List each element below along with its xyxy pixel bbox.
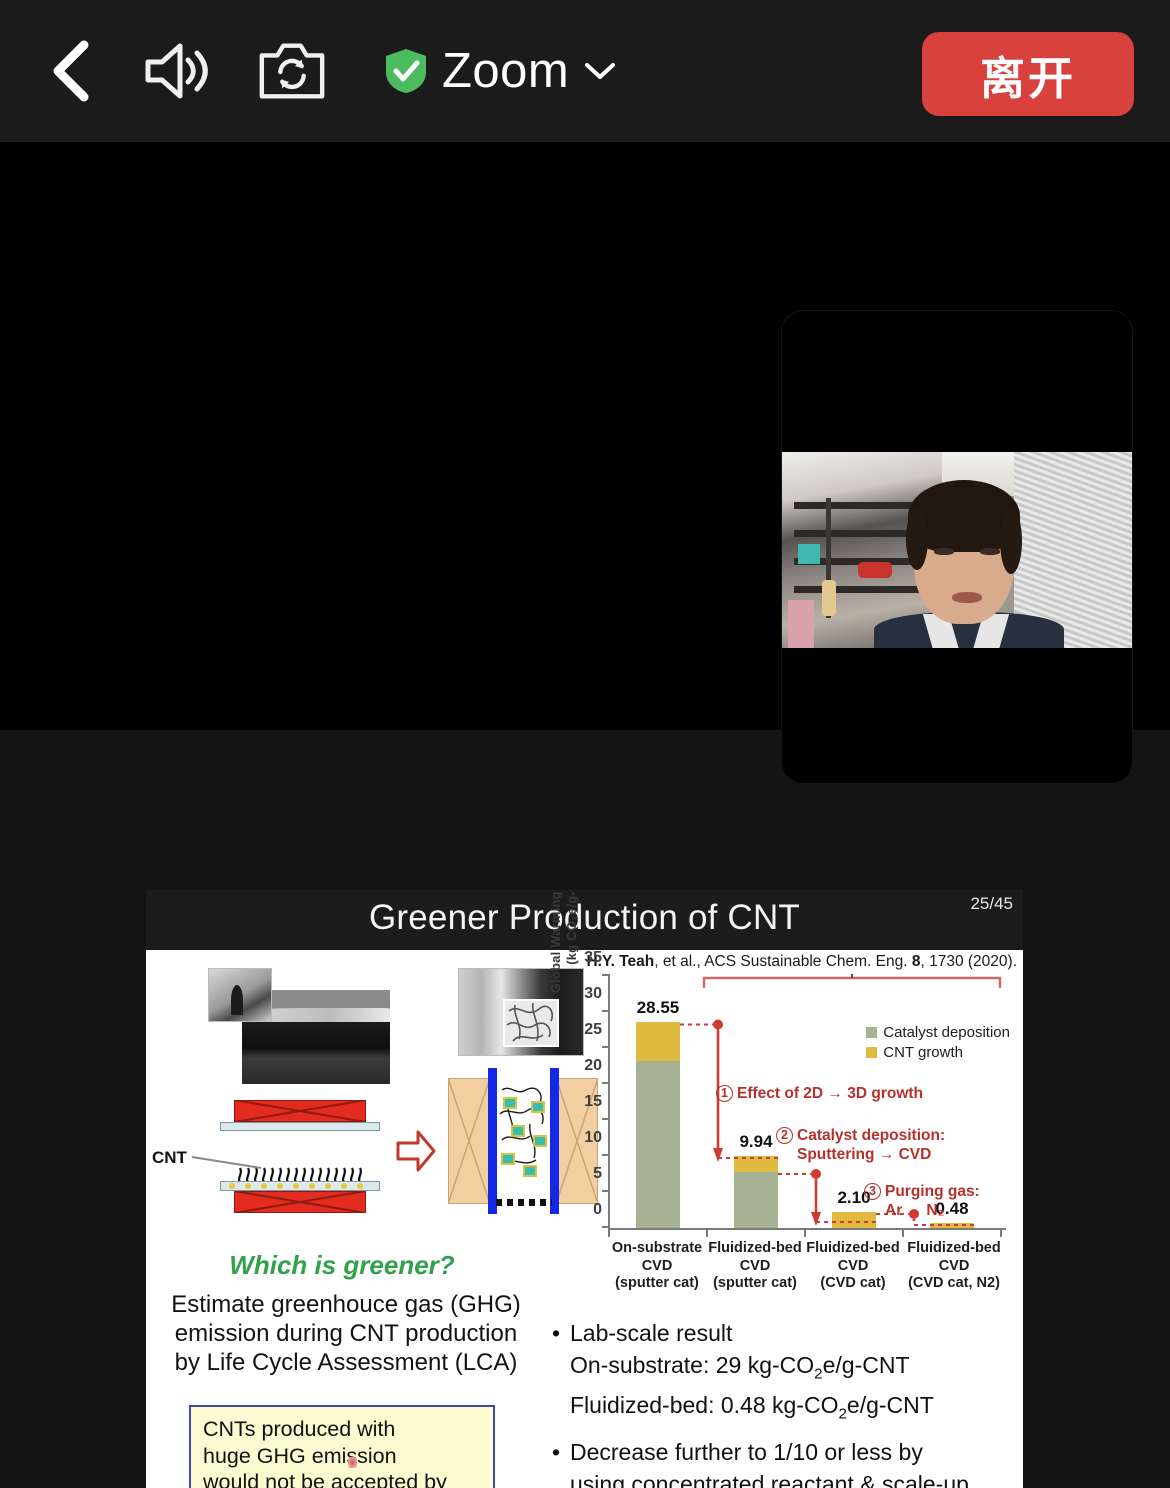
x-tick (608, 1229, 610, 1237)
shelf-item-pink (788, 600, 814, 648)
sem-inset-image (208, 968, 272, 1022)
back-button[interactable] (44, 40, 96, 102)
x-category-label: Fluidized-bed CVD (CVD cat, N2) (902, 1240, 1006, 1293)
y-tick (602, 974, 610, 976)
slide-page-number: 25/45 (970, 894, 1013, 914)
switch-camera-button[interactable] (256, 38, 328, 104)
person-eye-left (934, 548, 954, 555)
speaker-button[interactable] (140, 38, 212, 104)
camera-switch-icon (256, 39, 328, 103)
catalyst-particles-icon (226, 1181, 374, 1191)
annotation-text: Effect of 2D → 3D growth (737, 1085, 923, 1102)
chart-annotation-2: 2Catalyst deposition: Sputtering → CVD (776, 1126, 945, 1164)
bullet-dot: • (552, 1437, 570, 1467)
slide-title: Greener Production of CNT (146, 898, 1023, 938)
ghg-line: by Life Cycle Assessment (LCA) (158, 1348, 534, 1377)
chart-annotation-3: 3Purging gas: Ar → N₂ (864, 1182, 980, 1220)
ghg-description: Estimate greenhouce gas (GHG) emission d… (158, 1290, 534, 1377)
x-category-line: (CVD cat) (804, 1275, 902, 1293)
y-tick-label: 30 (562, 985, 602, 1003)
process-arrow-icon (396, 1128, 436, 1174)
shelf-item-teal (798, 544, 820, 564)
ghg-line: Estimate greenhouce gas (GHG) (158, 1290, 534, 1319)
x-category-line: Fluidized-bed (706, 1240, 804, 1258)
y-tick-label: 0 (562, 1201, 602, 1219)
x-category-line: CVD (608, 1258, 706, 1276)
slide-right-column: Global Warming Potential (kg CO₂e/g-CNT) (538, 950, 1023, 1488)
annotation-number: 1 (716, 1085, 733, 1102)
y-tick-label: 5 (562, 1165, 602, 1183)
callout-line: huge GHG emission (203, 1443, 483, 1470)
shield-check-icon (384, 48, 428, 94)
bar-segment-cnt-growth (734, 1156, 778, 1172)
substrate-plate (220, 1122, 380, 1131)
bar-segment-cnt-growth (930, 1223, 974, 1228)
legend-swatch-cnt-growth (866, 1047, 877, 1058)
annotation-number: 2 (776, 1127, 793, 1144)
x-category-label: Fluidized-bed CVD (sputter cat) (706, 1240, 804, 1293)
x-category-line: CVD (902, 1258, 1006, 1276)
callout-line: CNTs produced with (203, 1416, 483, 1443)
annotation-text-line2: Sputtering → CVD (776, 1145, 945, 1164)
chart-annotation-1: 1Effect of 2D → 3D growth (716, 1084, 923, 1103)
chevron-down-icon[interactable] (583, 60, 617, 82)
app-root: Zoom 离开 (0, 0, 1170, 1488)
person-hair-side-left (906, 508, 928, 570)
x-category-line: CVD (804, 1258, 902, 1276)
annotation-text: Purging gas: (885, 1183, 980, 1200)
video-frame (782, 452, 1133, 648)
bullet-dot: • (552, 1318, 570, 1348)
mouse-cursor-highlight (348, 1457, 357, 1468)
y-tick (602, 1118, 610, 1120)
y-tick-label: 10 (562, 1129, 602, 1147)
bullet-item: • Decrease further to 1/10 or less by (552, 1437, 1014, 1467)
callout-box: CNTs produced with huge GHG emission wou… (189, 1405, 495, 1488)
bar-segment-catalyst-deposition (636, 1061, 680, 1228)
callout-line: would not be accepted by (203, 1469, 483, 1488)
y-tick-label: 15 (562, 1093, 602, 1111)
x-category-line: Fluidized-bed (902, 1240, 1006, 1258)
x-category-line: On-substrate (608, 1240, 706, 1258)
legend-item: CNT growth (866, 1044, 1010, 1061)
bullet-text: Lab-scale result (570, 1318, 732, 1348)
x-category-line: (CVD cat, N2) (902, 1275, 1006, 1293)
sem-image-group (208, 968, 390, 1088)
bar-value-label: 28.55 (616, 998, 700, 1018)
slide-header: Greener Production of CNT 25/45 (146, 890, 1023, 950)
bar-fluidized-bed-cvd-cat-n2 (930, 1223, 974, 1228)
y-tick (602, 1154, 610, 1156)
fb-wall-left-cross-icon (448, 1078, 490, 1204)
heater-cross-icon (234, 1100, 366, 1122)
x-category-line: (sputter cat) (608, 1275, 706, 1293)
bullet-item: • Lab-scale result (552, 1318, 1014, 1348)
y-tick-label: 25 (562, 1021, 602, 1039)
chart-top-bracket (702, 974, 1002, 990)
y-tick (602, 1082, 610, 1084)
legend-label: CNT growth (883, 1044, 963, 1061)
person-hair-side-right (1000, 508, 1022, 574)
person-mouth (952, 592, 982, 603)
y-tick (602, 1190, 610, 1192)
slide-left-column: CNT (146, 950, 538, 1488)
chart-x-axis (608, 1228, 1006, 1230)
annotation-text: Catalyst deposition: (797, 1127, 945, 1144)
which-is-greener-heading: Which is greener? (146, 1250, 538, 1281)
y-tick (602, 1226, 610, 1228)
y-axis-label-line1: Global Warming Potential (548, 890, 563, 993)
shelf-item-bottle (822, 580, 836, 616)
x-tick (1000, 1229, 1002, 1237)
bullet-subline: Fluidized-bed: 0.48 kg-CO2e/g-CNT (552, 1390, 1014, 1430)
meeting-stage: Greener Production of CNT 25/45 H.Y. Tea… (0, 142, 1170, 1488)
y-tick (602, 1010, 610, 1012)
x-tick (706, 1229, 708, 1237)
self-view-video-tile[interactable] (781, 310, 1133, 784)
x-category-label: Fluidized-bed CVD (CVD cat) (804, 1240, 902, 1293)
x-category-label: On-substrate CVD (sputter cat) (608, 1240, 706, 1293)
shelf-item-red (858, 562, 892, 578)
meeting-app-label-group[interactable]: Zoom (384, 43, 617, 99)
bar-segment-catalyst-deposition (734, 1172, 778, 1228)
heater-cross-icon (234, 1191, 366, 1213)
slide-bullet-list: • Lab-scale result On-substrate: 29 kg-C… (552, 1318, 1014, 1488)
x-category-line: CVD (706, 1258, 804, 1276)
on-substrate-reactor-bottom (220, 1165, 380, 1213)
chart-legend: Catalyst deposition CNT growth (866, 1024, 1010, 1064)
app-name-label: Zoom (442, 43, 569, 99)
chevron-left-icon (48, 40, 92, 102)
person-eye-right (980, 548, 1000, 555)
y-tick-label: 35 (562, 949, 602, 967)
speaker-icon (140, 40, 212, 102)
legend-swatch-catalyst-deposition (866, 1027, 877, 1038)
y-tick (602, 1046, 610, 1048)
bar-fluidized-bed-cvd-sputter (734, 1156, 778, 1228)
x-tick (804, 1229, 806, 1237)
y-tick-label: 20 (562, 1057, 602, 1075)
legend-label: Catalyst deposition (883, 1024, 1010, 1041)
legend-item: Catalyst deposition (866, 1024, 1010, 1041)
bar-segment-cnt-growth (636, 1022, 680, 1061)
shared-slide[interactable]: Greener Production of CNT 25/45 H.Y. Tea… (146, 890, 1023, 1488)
leave-meeting-button[interactable]: 离开 (922, 32, 1134, 116)
annotation-number: 3 (864, 1183, 881, 1200)
bullet-text: Decrease further to 1/10 or less by (570, 1437, 923, 1467)
meeting-top-bar: Zoom 离开 (0, 0, 1170, 142)
annotation-text-line2: Ar → N₂ (864, 1201, 980, 1220)
ghg-line: emission during CNT production (158, 1319, 534, 1348)
gwp-bar-chart: Global Warming Potential (kg CO₂e/g-CNT) (546, 968, 1016, 1298)
bullet-subline: On-substrate: 29 kg-CO2e/g-CNT (552, 1350, 1014, 1390)
on-substrate-reactor-top (220, 1100, 380, 1134)
bar-on-substrate-cvd-sputter (636, 1022, 680, 1228)
bullet-subline: using concentrated reactant & scale-up (552, 1469, 1014, 1488)
x-category-line: (sputter cat) (706, 1275, 804, 1293)
x-tick (902, 1229, 904, 1237)
cnt-callout-label: CNT (152, 1148, 187, 1168)
x-category-line: Fluidized-bed (804, 1240, 902, 1258)
